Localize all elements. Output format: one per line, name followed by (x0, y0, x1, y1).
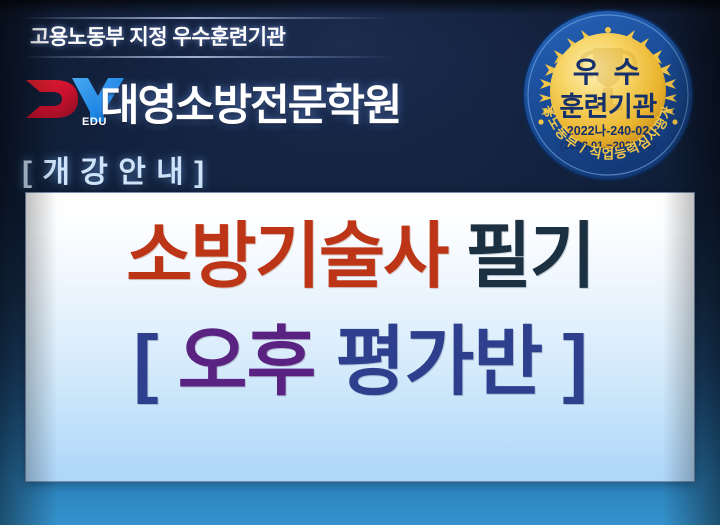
accreditation-header: 고용노동부 지정 우수훈련기관 (30, 21, 285, 51)
course-panel: 소방기술사 필기 [ 오후 평가반 ] (25, 192, 695, 482)
badge-center-line2: 훈련기관 (559, 92, 657, 122)
header-divider-bottom (28, 56, 393, 58)
badge-cert-number: 2022나-240-02 (567, 123, 649, 138)
class-type: 평가반 (336, 320, 543, 405)
course-title-main: 소방기술사 (126, 217, 447, 297)
bracket-close: ] (562, 320, 586, 405)
course-title-line2: [ 오후 평가반 ] (26, 325, 694, 401)
promo-poster: 고용노동부 지정 우수훈련기관 EDU (0, 0, 720, 525)
class-time: 오후 (178, 320, 316, 405)
badge-center-line1: 우 수 (573, 57, 643, 89)
brand-name: 대영소방전문학원 (100, 71, 400, 133)
bracket-open: [ (133, 320, 157, 405)
course-announcement-label: [ 개 강 안 내 ] (22, 147, 205, 191)
excellence-badge: 우 수 훈련기관 2022나-240-02 (2023.01.~2027.12)… (519, 6, 697, 184)
course-title-sub: 필기 (465, 217, 593, 297)
header-divider-top (28, 17, 393, 19)
course-title-line1: 소방기술사 필기 (26, 221, 694, 293)
